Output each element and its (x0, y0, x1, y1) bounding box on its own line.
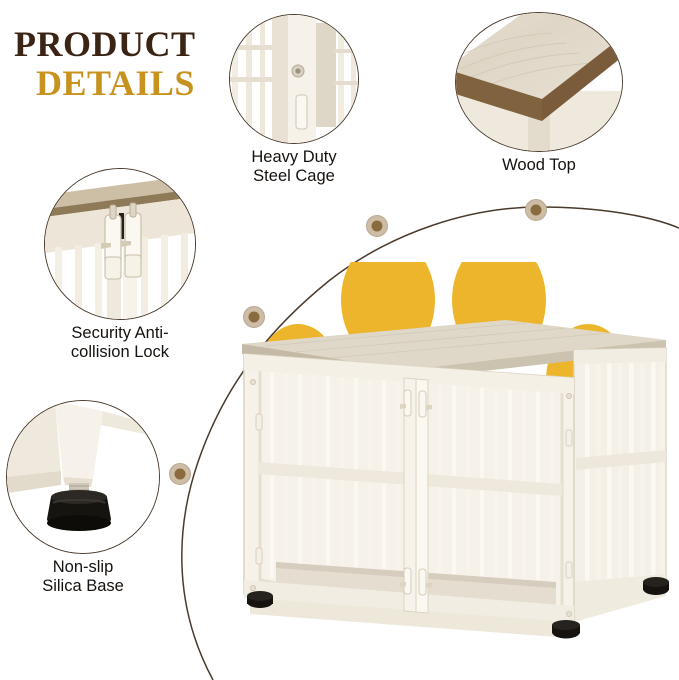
silica-base-illustration (7, 401, 159, 553)
callout-label-line1: Wood Top (502, 156, 576, 175)
callout-wood-top: Wood Top (455, 12, 623, 152)
callout-image-security-lock (44, 168, 196, 320)
callout-label-line1: Heavy Duty (251, 148, 336, 167)
callout-image-silica-base (6, 400, 160, 554)
crate-structure (236, 262, 672, 660)
callout-label-line1: Non-slip (42, 558, 124, 577)
callout-image-wood-top (455, 12, 623, 152)
callout-image-steel-cage (229, 14, 359, 144)
security-lock-illustration (45, 169, 195, 319)
infographic-canvas: PRODUCT DETAILS (0, 0, 679, 680)
connector-dot (525, 199, 547, 221)
title-line-product: PRODUCT (14, 26, 224, 63)
page-title: PRODUCT DETAILS (14, 26, 224, 101)
callout-security-lock: Security Anti- collision Lock (44, 168, 196, 320)
title-line-details: DETAILS (36, 65, 224, 102)
wood-top-illustration (456, 13, 622, 151)
callout-label-line2: Silica Base (42, 577, 124, 596)
callout-label-silica-base: Non-slip Silica Base (42, 558, 124, 596)
product-image (236, 262, 672, 660)
steel-cage-illustration (230, 15, 358, 143)
callout-label-line2: collision Lock (71, 343, 169, 362)
callout-steel-cage: Heavy Duty Steel Cage (229, 14, 359, 144)
connector-dot (169, 463, 191, 485)
callout-label-steel-cage: Heavy Duty Steel Cage (251, 148, 336, 186)
callout-label-wood-top: Wood Top (502, 156, 576, 175)
connector-dot (366, 215, 388, 237)
callout-label-line2: Steel Cage (251, 167, 336, 186)
callout-label-security-lock: Security Anti- collision Lock (71, 324, 169, 362)
callout-silica-base: Non-slip Silica Base (6, 400, 160, 554)
callout-label-line1: Security Anti- (71, 324, 169, 343)
dog-crate-furniture (236, 262, 672, 660)
